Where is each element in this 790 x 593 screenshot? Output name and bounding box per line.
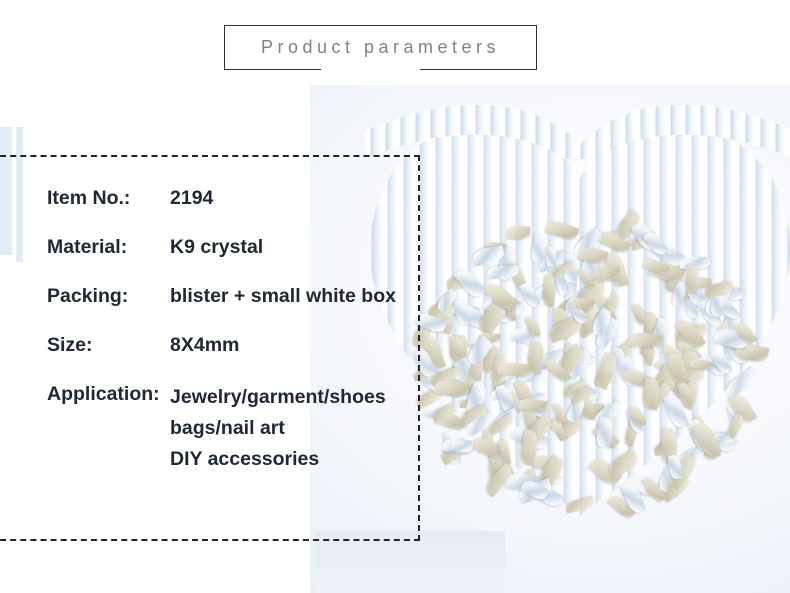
spec-label-application: Application: xyxy=(47,382,170,407)
spec-label-size: Size: xyxy=(47,333,170,358)
spec-list: Item No.: 2194 Material: K9 crystal Pack… xyxy=(47,186,417,475)
spec-value-application-line-1: Jewelry/garment/shoes xyxy=(170,382,386,413)
spec-value-application: Jewelry/garment/shoes bags/nail art DIY … xyxy=(170,382,386,475)
spec-row-packing: Packing: blister + small white box xyxy=(47,284,417,309)
rhinestone xyxy=(605,449,641,480)
spec-row-material: Material: K9 crystal xyxy=(47,235,417,260)
spec-row-application: Application: Jewelry/garment/shoes bags/… xyxy=(47,382,417,475)
spec-label-material: Material: xyxy=(47,235,170,260)
rhinestone xyxy=(685,264,699,293)
rhinestone-pile xyxy=(405,205,765,525)
rhinestone xyxy=(542,275,557,307)
spec-label-item-no: Item No.: xyxy=(47,186,170,211)
spec-label-packing: Packing: xyxy=(47,284,170,309)
rhinestone xyxy=(506,226,531,240)
spec-row-item-no: Item No.: 2194 xyxy=(47,186,417,211)
rhinestone xyxy=(725,413,746,440)
rhinestone xyxy=(454,299,471,326)
rhinestone xyxy=(566,497,596,513)
page-title: Product parameters xyxy=(261,37,500,58)
spec-row-size: Size: 8X4mm xyxy=(47,333,417,358)
spec-value-application-line-3: DIY accessories xyxy=(170,444,386,475)
rhinestone xyxy=(544,219,579,243)
spec-value-item-no: 2194 xyxy=(170,186,213,211)
page-title-box: Product parameters xyxy=(224,25,537,70)
spec-value-size: 8X4mm xyxy=(170,333,239,358)
spec-value-packing: blister + small white box xyxy=(170,284,396,309)
spec-value-application-line-2: bags/nail art xyxy=(170,413,386,444)
title-box-border-gap xyxy=(321,66,420,72)
product-parameters-banner: Product parameters Item No.: 2194 Materi… xyxy=(0,0,790,593)
spec-value-material: K9 crystal xyxy=(170,235,263,260)
